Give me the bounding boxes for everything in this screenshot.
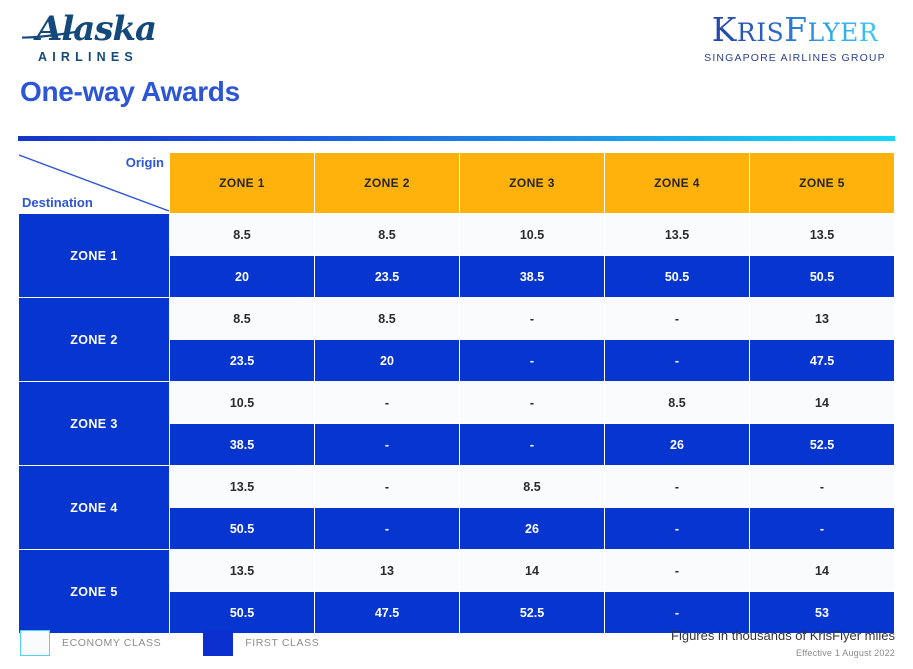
row-header-zone-2: ZONE 2	[19, 298, 169, 381]
row-header-zone-4: ZONE 4	[19, 466, 169, 549]
footer: Figures in thousands of KrisFlyer miles …	[671, 628, 895, 658]
cell-first-class: 47.5	[750, 340, 894, 381]
cell-economy: 8.5	[315, 298, 459, 339]
cell-first-class: 23.5	[170, 340, 314, 381]
column-header-zone-3: ZONE 3	[460, 153, 604, 213]
cell-economy: 13.5	[170, 466, 314, 507]
legend-item-first: FIRST CLASS	[203, 630, 319, 656]
cell-first-class: 52.5	[460, 592, 604, 633]
award-chart-page: Alaska AIRLINES One-way Awards KRISFLYER…	[0, 0, 913, 669]
table-row: ZONE 2 8.5 8.5 - - 13	[19, 298, 894, 339]
krisflyer-ris: RIS	[737, 18, 784, 47]
cell-first-class: 26	[605, 424, 749, 465]
economy-swatch-icon	[20, 630, 50, 656]
cell-first-class: 23.5	[315, 256, 459, 297]
cell-first-class: 50.5	[170, 592, 314, 633]
column-header-zone-2: ZONE 2	[315, 153, 459, 213]
row-header-zone-3: ZONE 3	[19, 382, 169, 465]
cell-economy: -	[605, 550, 749, 591]
cell-economy: -	[460, 382, 604, 423]
column-header-zone-5: ZONE 5	[750, 153, 894, 213]
cell-first-class: 50.5	[750, 256, 894, 297]
krisflyer-logo: KRISFLYER SINGAPORE AIRLINES GROUP	[695, 12, 895, 64]
cell-economy: 8.5	[170, 298, 314, 339]
table-body: ZONE 1 8.5 8.5 10.5 13.5 13.5 20 23.5 38…	[19, 214, 894, 633]
cell-economy: -	[460, 298, 604, 339]
cell-first-class: 26	[460, 508, 604, 549]
cell-economy: 13	[750, 298, 894, 339]
cell-first-class: 50.5	[170, 508, 314, 549]
brand-header: Alaska AIRLINES One-way Awards KRISFLYER…	[0, 0, 913, 130]
cell-economy: 10.5	[170, 382, 314, 423]
krisflyer-k: K	[712, 10, 737, 49]
cell-economy: 8.5	[605, 382, 749, 423]
cell-first-class: 47.5	[315, 592, 459, 633]
cell-first-class: 20	[315, 340, 459, 381]
footer-effective-date: Effective 1 August 2022	[671, 648, 895, 658]
cell-economy: 8.5	[170, 214, 314, 255]
gradient-divider	[18, 136, 895, 141]
cell-economy: 8.5	[315, 214, 459, 255]
cell-first-class: -	[460, 340, 604, 381]
cell-economy: 13.5	[170, 550, 314, 591]
cell-first-class: 38.5	[460, 256, 604, 297]
krisflyer-f: F	[784, 10, 807, 49]
table-row: ZONE 4 13.5 - 8.5 - -	[19, 466, 894, 507]
alaska-logo-subtext: AIRLINES	[22, 50, 167, 64]
row-header-zone-5: ZONE 5	[19, 550, 169, 633]
table-row: ZONE 1 8.5 8.5 10.5 13.5 13.5	[19, 214, 894, 255]
cell-first-class: -	[460, 424, 604, 465]
footer-note: Figures in thousands of KrisFlyer miles	[671, 628, 895, 643]
legend-item-economy: ECONOMY CLASS	[20, 630, 161, 656]
award-chart-table: Origin Destination ZONE 1 ZONE 2 ZONE 3 …	[18, 152, 895, 634]
origin-destination-corner: Origin Destination	[19, 153, 169, 213]
cell-first-class: 20	[170, 256, 314, 297]
cell-first-class: -	[605, 592, 749, 633]
cell-economy: 14	[750, 550, 894, 591]
krisflyer-wordmark: KRISFLYER	[695, 12, 895, 51]
cell-economy: -	[605, 298, 749, 339]
cell-economy: 10.5	[460, 214, 604, 255]
legend: ECONOMY CLASS FIRST CLASS	[20, 630, 361, 656]
cell-first-class: 50.5	[605, 256, 749, 297]
krisflyer-subtext: SINGAPORE AIRLINES GROUP	[695, 52, 895, 64]
cell-economy: 13.5	[750, 214, 894, 255]
cell-economy: 14	[460, 550, 604, 591]
cell-economy: -	[315, 466, 459, 507]
alaska-airlines-logo: Alaska AIRLINES	[22, 10, 167, 72]
origin-label: Origin	[126, 155, 164, 170]
table-head: Origin Destination ZONE 1 ZONE 2 ZONE 3 …	[19, 153, 894, 213]
krisflyer-lyer: LYER	[808, 18, 879, 47]
cell-first-class: -	[315, 508, 459, 549]
table-header-row: Origin Destination ZONE 1 ZONE 2 ZONE 3 …	[19, 153, 894, 213]
cell-first-class: -	[315, 424, 459, 465]
column-header-zone-4: ZONE 4	[605, 153, 749, 213]
cell-economy: -	[605, 466, 749, 507]
cell-economy: 13	[315, 550, 459, 591]
legend-label-first: FIRST CLASS	[245, 637, 319, 649]
column-header-zone-1: ZONE 1	[170, 153, 314, 213]
cell-first-class: 53	[750, 592, 894, 633]
cell-economy: 13.5	[605, 214, 749, 255]
table-row: ZONE 5 13.5 13 14 - 14	[19, 550, 894, 591]
cell-first-class: -	[605, 340, 749, 381]
cell-first-class: -	[750, 508, 894, 549]
cell-economy: 14	[750, 382, 894, 423]
destination-label: Destination	[22, 195, 93, 210]
row-header-zone-1: ZONE 1	[19, 214, 169, 297]
cell-first-class: -	[605, 508, 749, 549]
first-class-swatch-icon	[203, 630, 233, 656]
table-row: ZONE 3 10.5 - - 8.5 14	[19, 382, 894, 423]
cell-economy: -	[315, 382, 459, 423]
legend-label-economy: ECONOMY CLASS	[62, 637, 161, 649]
cell-economy: 8.5	[460, 466, 604, 507]
alaska-logo-wordmark: Alaska	[22, 10, 167, 48]
cell-first-class: 38.5	[170, 424, 314, 465]
cell-first-class: 52.5	[750, 424, 894, 465]
page-title: One-way Awards	[20, 76, 240, 108]
alaska-swoosh-icon	[22, 30, 78, 39]
cell-economy: -	[750, 466, 894, 507]
